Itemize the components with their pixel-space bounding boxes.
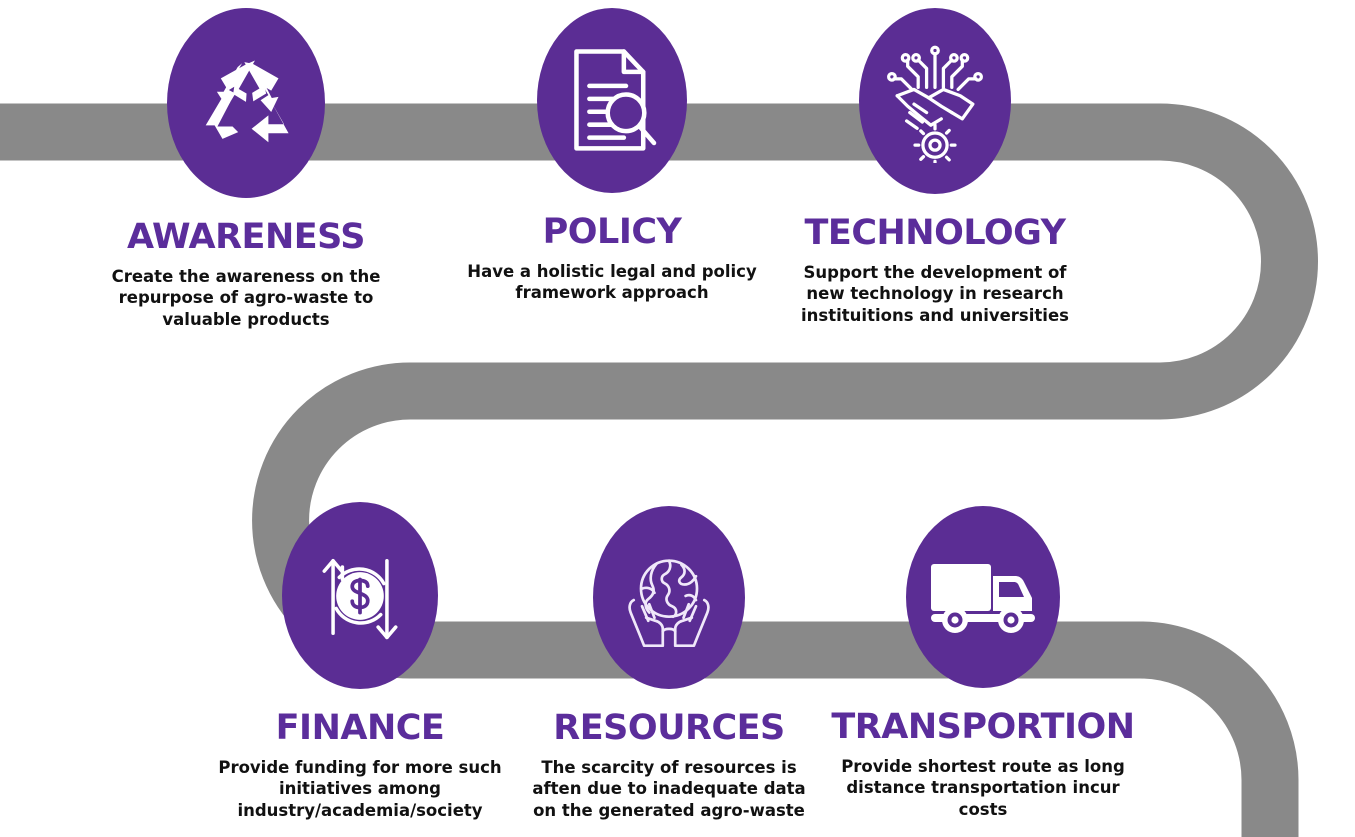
recycle-icon [190,47,302,159]
resources-desc-line-3: on the generated agro-waste [522,800,816,821]
awareness-desc-line-3: valuable products [98,309,394,330]
delivery-truck-icon [927,554,1039,640]
resources-title: RESOURCES [522,711,816,746]
finance-title: FINANCE [212,711,508,746]
finance-desc-line-3: industry/academia/society [212,800,508,821]
dollar-cycle-arrows-icon [308,538,412,654]
resources-desc-line-1: The scarcity of resources is [522,757,816,778]
resources-bubble[interactable] [593,506,745,689]
step-awareness[interactable]: AWARENESS Create the awareness on the re… [98,8,394,330]
step-finance[interactable]: FINANCE Provide funding for more such in… [212,502,508,821]
infographic-canvas: AWARENESS Create the awareness on the re… [0,0,1355,837]
technology-bubble[interactable] [859,8,1011,194]
finance-desc-line-2: initiatives among [212,778,508,799]
circuit-handshake-gear-icon [881,39,989,163]
awareness-desc-line-2: repurpose of agro-waste to [98,287,394,308]
policy-desc-line-1: Have a holistic legal and policy [462,261,762,282]
finance-bubble[interactable] [282,502,438,689]
policy-title: POLICY [462,215,762,250]
awareness-desc-line-1: Create the awareness on the [98,266,394,287]
policy-bubble[interactable] [537,8,687,193]
step-policy[interactable]: POLICY Have a holistic legal and policy … [462,8,762,304]
document-search-icon [562,45,662,157]
technology-desc-line-2: new technology in research [782,283,1088,304]
transportion-desc-line-2: distance transportation incur [828,777,1138,798]
awareness-description: Create the awareness on the repurpose of… [98,266,394,330]
transportion-desc-line-3: costs [828,799,1138,820]
finance-description: Provide funding for more such initiative… [212,757,508,821]
finance-desc-line-1: Provide funding for more such [212,757,508,778]
awareness-bubble[interactable] [167,8,325,198]
transportion-title: TRANSPORTION [828,710,1138,745]
step-resources[interactable]: RESOURCES The scarcity of resources is a… [522,506,816,821]
transportion-description: Provide shortest route as long distance … [828,756,1138,820]
resources-description: The scarcity of resources is aften due t… [522,757,816,821]
technology-desc-line-3: instituitions and universities [782,305,1088,326]
step-technology[interactable]: TECHNOLOGY Support the development of ne… [782,8,1088,326]
technology-desc-line-1: Support the development of [782,262,1088,283]
policy-desc-line-2: framework approach [462,282,762,303]
technology-title: TECHNOLOGY [782,216,1088,251]
transportion-desc-line-1: Provide shortest route as long [828,756,1138,777]
resources-desc-line-2: aften due to inadequate data [522,778,816,799]
step-transportion[interactable]: TRANSPORTION Provide shortest route as l… [828,506,1138,820]
transportion-bubble[interactable] [906,506,1060,688]
awareness-title: AWARENESS [98,220,394,255]
globe-in-hands-icon [617,542,721,654]
policy-description: Have a holistic legal and policy framewo… [462,261,762,304]
technology-description: Support the development of new technolog… [782,262,1088,326]
